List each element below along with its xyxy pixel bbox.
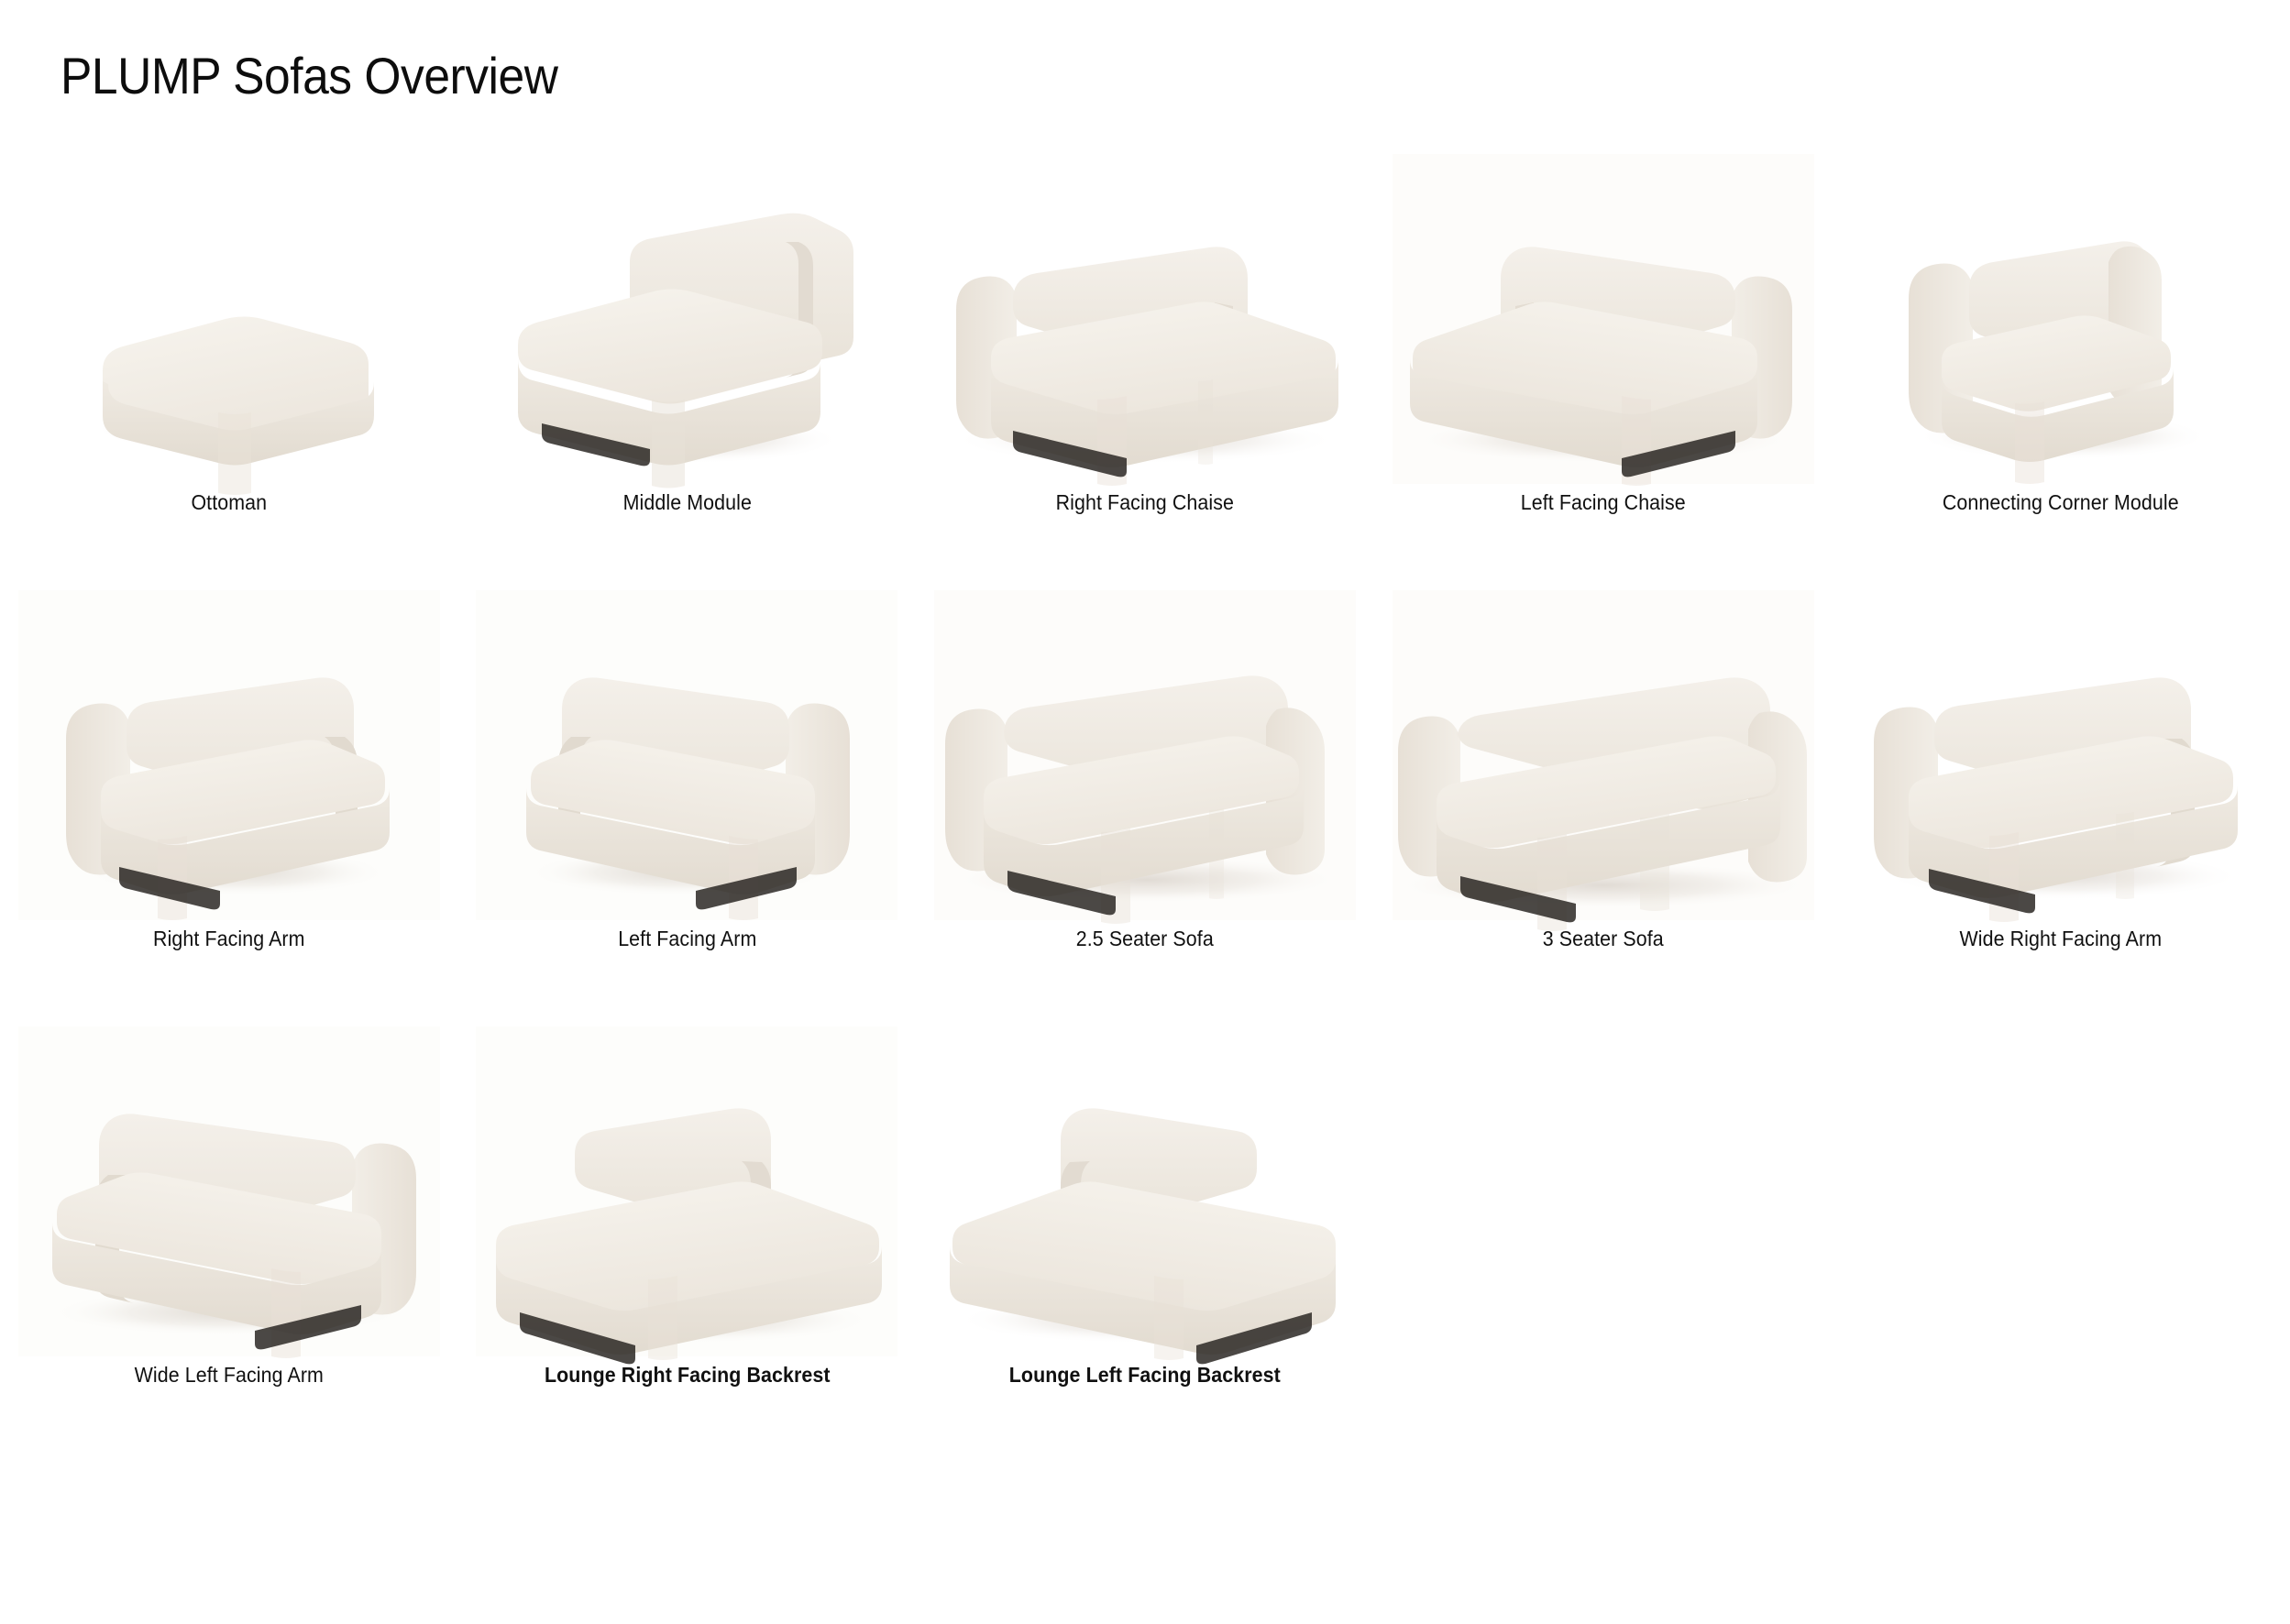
product-image-right-facing-arm [18, 590, 440, 920]
product-label: Lounge Right Facing Backrest [474, 1363, 900, 1388]
product-image-two-half-seater-sofa [934, 590, 1356, 920]
product-cell-empty [1832, 1026, 2290, 1463]
product-grid: Ottoman Mi [0, 154, 2290, 1463]
product-label: 2.5 Seater Sofa [932, 927, 1359, 951]
product-image-wide-right-facing-arm [1850, 590, 2272, 920]
product-card[interactable]: Right Facing Arm [0, 590, 458, 1026]
product-image-middle-module [476, 154, 897, 484]
product-image-lounge-left-facing-backrest [934, 1026, 1356, 1356]
product-image-lounge-right-facing-backrest [476, 1026, 897, 1356]
product-label: Right Facing Arm [16, 927, 442, 951]
product-card[interactable]: Left Facing Arm [458, 590, 917, 1026]
product-card[interactable]: Left Facing Chaise [1374, 154, 1833, 590]
product-card[interactable]: Lounge Left Facing Backrest [916, 1026, 1374, 1463]
product-image-ottoman [18, 154, 440, 484]
product-label: Wide Right Facing Arm [1848, 927, 2274, 951]
product-label: Lounge Left Facing Backrest [932, 1363, 1359, 1388]
product-label: Connecting Corner Module [1848, 490, 2274, 515]
product-label: Ottoman [16, 490, 442, 515]
product-row: Wide Left Facing Arm [0, 1026, 2290, 1463]
product-image-left-facing-arm [476, 590, 897, 920]
product-image-left-facing-chaise [1393, 154, 1814, 484]
product-card[interactable]: Middle Module [458, 154, 917, 590]
product-card[interactable]: 3 Seater Sofa [1374, 590, 1833, 1026]
page-title: PLUMP Sofas Overview [61, 46, 557, 105]
product-card[interactable]: Ottoman [0, 154, 458, 590]
product-card[interactable]: Wide Left Facing Arm [0, 1026, 458, 1463]
product-card[interactable]: Lounge Right Facing Backrest [458, 1026, 917, 1463]
product-row: Right Facing Arm Lef [0, 590, 2290, 1026]
product-label: Left Facing Chaise [1390, 490, 1816, 515]
product-image-three-seater-sofa [1393, 590, 1814, 920]
product-row: Ottoman Mi [0, 154, 2290, 590]
product-label: Wide Left Facing Arm [16, 1363, 442, 1388]
product-label: 3 Seater Sofa [1390, 927, 1816, 951]
product-image-wide-left-facing-arm [18, 1026, 440, 1356]
product-label: Middle Module [474, 490, 900, 515]
product-image-right-facing-chaise [934, 154, 1356, 484]
product-cell-empty [1374, 1026, 1833, 1463]
product-label: Right Facing Chaise [932, 490, 1359, 515]
product-image-connecting-corner-module [1850, 154, 2272, 484]
product-card[interactable]: Connecting Corner Module [1832, 154, 2290, 590]
product-label: Left Facing Arm [474, 927, 900, 951]
catalog-page: PLUMP Sofas Overview Ottoman [0, 0, 2290, 1624]
product-card[interactable]: Wide Right Facing Arm [1832, 590, 2290, 1026]
product-card[interactable]: Right Facing Chaise [916, 154, 1374, 590]
product-card[interactable]: 2.5 Seater Sofa [916, 590, 1374, 1026]
